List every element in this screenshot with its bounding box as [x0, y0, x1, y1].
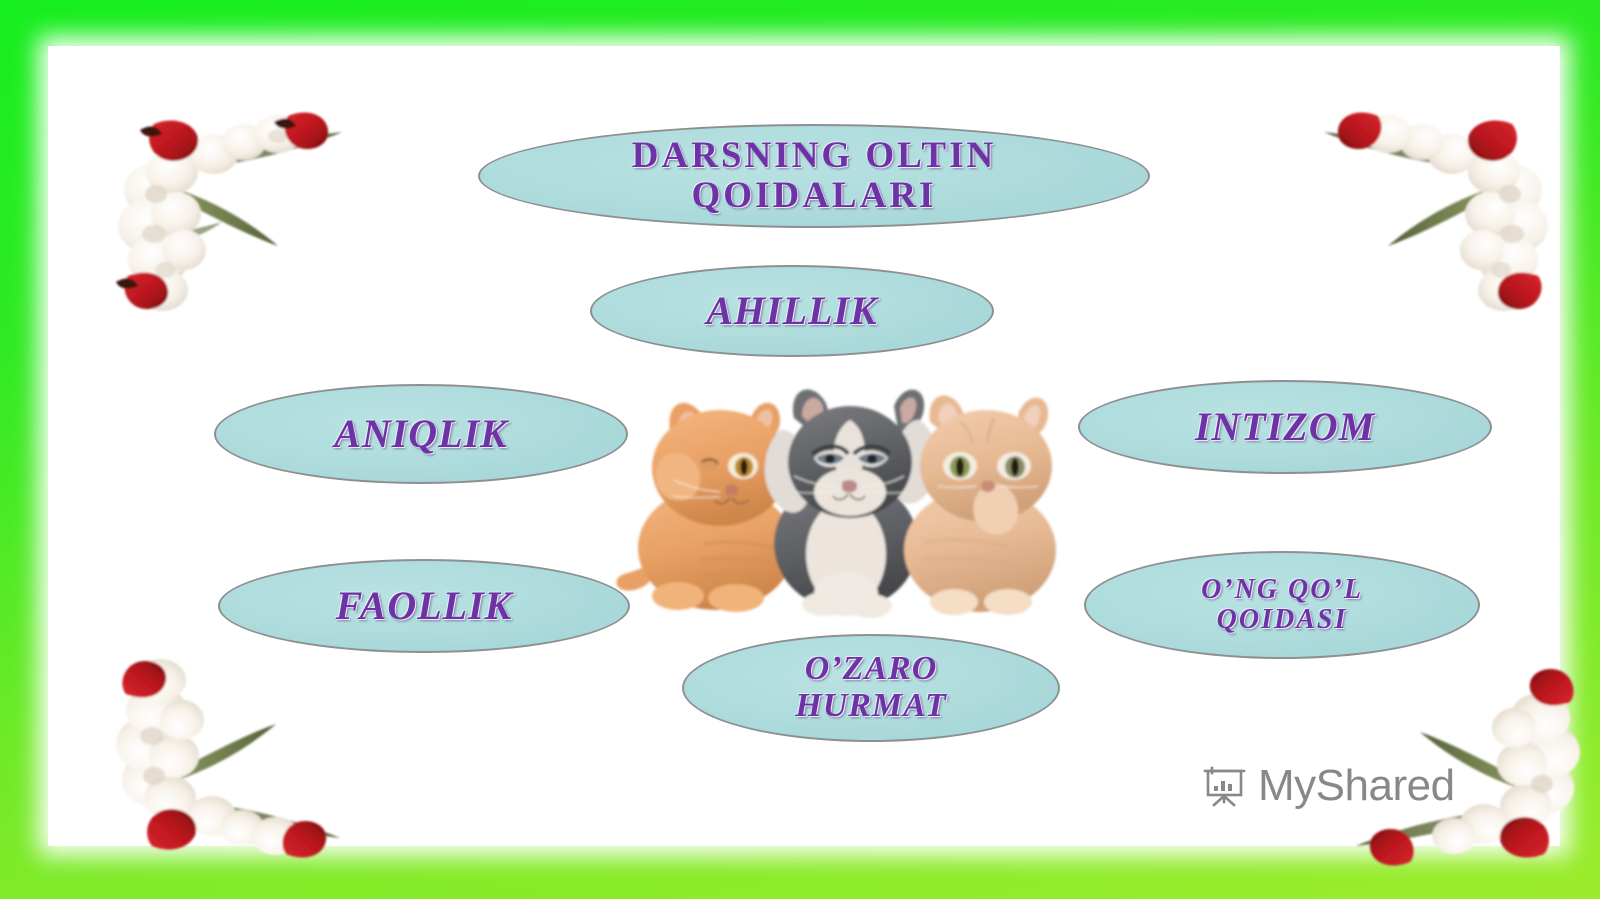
rule-bubble-ahillik: AHILLIK	[590, 265, 994, 357]
myshared-watermark: MyShared	[1200, 762, 1455, 810]
rule-label-ong-qol-qoidasi: O’NG QO’L QOIDASI	[1201, 575, 1363, 635]
floral-corner-top-left-icon	[110, 94, 380, 324]
page-title: DARSNING OLTIN QOIDALARI	[632, 136, 996, 216]
three-kittens-illustration	[608, 358, 1088, 626]
presentation-board-icon	[1200, 762, 1248, 810]
rule-bubble-intizom: INTIZOM	[1078, 380, 1492, 474]
rule-label-aniqlik: ANIQLIK	[334, 412, 508, 455]
floral-corner-bottom-left-icon	[108, 646, 378, 876]
slide-title-bubble: DARSNING OLTIN QOIDALARI	[478, 124, 1150, 228]
slide-white-card: DARSNING OLTIN QOIDALARI AHILLIK ANIQLIK…	[48, 46, 1560, 846]
slide-canvas: DARSNING OLTIN QOIDALARI AHILLIK ANIQLIK…	[0, 0, 1600, 899]
rule-bubble-aniqlik: ANIQLIK	[214, 384, 628, 484]
rule-bubble-ong-qol-qoidasi: O’NG QO’L QOIDASI	[1084, 551, 1480, 659]
myshared-watermark-text: MyShared	[1258, 764, 1455, 808]
rule-label-faollik: FAOLLIK	[336, 584, 513, 627]
rule-bubble-faollik: FAOLLIK	[218, 559, 630, 653]
rule-bubble-ozaro-hurmat: O’ZARO HURMAT	[682, 634, 1060, 742]
rule-label-ozaro-hurmat: O’ZARO HURMAT	[795, 651, 946, 724]
rule-label-intizom: INTIZOM	[1195, 405, 1375, 448]
floral-corner-top-right-icon	[1286, 94, 1556, 324]
rule-label-ahillik: AHILLIK	[706, 289, 877, 332]
